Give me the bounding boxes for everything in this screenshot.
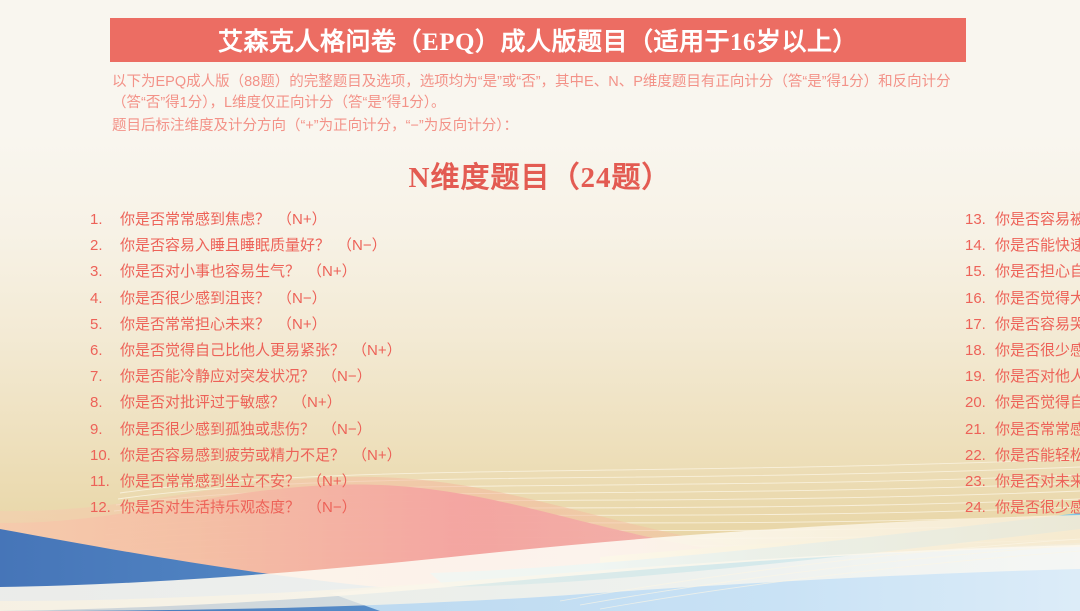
slide-root: 艾森克人格问卷（EPQ）成人版题目（适用于16岁以上） 以下为EPQ成人版（88… [0, 0, 1080, 611]
question-tag: （N−） [300, 496, 357, 517]
question-tag: （N−） [315, 418, 372, 439]
question-item: 19. 你是否对他人的议论感到不安？ （N+） [965, 365, 1080, 391]
question-text: 你是否容易被噩梦困扰？ [995, 208, 1080, 229]
question-text: 你是否容易入睡且睡眠质量好？ [120, 234, 330, 255]
question-item: 21. 你是否常常感到莫名的烦躁？ （N+） [965, 418, 1080, 444]
question-tag: （N+） [270, 313, 327, 334]
question-number: 12. [90, 499, 120, 516]
question-item: 20. 你是否觉得自己情绪稳定？ （N−） [965, 391, 1080, 417]
question-tag: （N−） [270, 287, 327, 308]
question-item: 22. 你是否能轻松应对工作/学习压力？ （N−） [965, 444, 1080, 470]
question-text: 你是否对他人的议论感到不安？ [995, 365, 1080, 386]
question-text: 你是否常常感到莫名的烦躁？ [995, 418, 1080, 439]
question-text: 你是否很少感到紧张或焦虑？ [995, 496, 1080, 517]
question-text: 你是否常常感到坐立不安？ [120, 470, 300, 491]
question-text: 你是否对生活持乐观态度？ [120, 496, 300, 517]
question-number: 23. [965, 473, 995, 490]
intro-line-1: 以下为EPQ成人版（88题）的完整题目及选项，选项均为“是”或“否”，其中E、N… [112, 72, 972, 114]
question-item: 18. 你是否很少感到恐惧？ （N−） [965, 339, 1080, 365]
question-item: 2. 你是否容易入睡且睡眠质量好？ （N−） [90, 234, 480, 260]
question-number: 21. [965, 421, 995, 438]
question-number: 3. [90, 263, 120, 280]
question-item: 16. 你是否觉得大多数事情都在自己的掌控中？ （N−） [965, 287, 1080, 313]
question-item: 13. 你是否容易被噩梦困扰？ （N+） [965, 208, 1080, 234]
question-text: 你是否很少感到沮丧？ [120, 287, 270, 308]
question-tag: （N+） [285, 391, 342, 412]
question-text: 你是否常常担心未来？ [120, 313, 270, 334]
question-text: 你是否容易哭泣？ [995, 313, 1080, 334]
question-item: 6. 你是否觉得自己比他人更易紧张？ （N+） [90, 339, 480, 365]
question-number: 10. [90, 447, 120, 464]
question-number: 18. [965, 342, 995, 359]
page-title: 艾森克人格问卷（EPQ）成人版题目（适用于16岁以上） [218, 22, 858, 58]
question-text: 你是否对未来感到悲观？ [995, 470, 1080, 491]
question-number: 9. [90, 421, 120, 438]
question-number: 2. [90, 237, 120, 254]
question-text: 你是否觉得自己比他人更易紧张？ [120, 339, 345, 360]
question-item: 3. 你是否对小事也容易生气？ （N+） [90, 260, 480, 286]
title-banner: 艾森克人格问卷（EPQ）成人版题目（适用于16岁以上） [110, 18, 966, 62]
question-number: 11. [90, 473, 120, 490]
question-item: 5. 你是否常常担心未来？ （N+） [90, 313, 480, 339]
question-item: 9. 你是否很少感到孤独或悲伤？ （N−） [90, 418, 480, 444]
intro-paragraph: 以下为EPQ成人版（88题）的完整题目及选项，选项均为“是”或“否”，其中E、N… [112, 72, 972, 137]
question-text: 你是否能快速从压力中恢复？ [995, 234, 1080, 255]
question-text: 你是否对批评过于敏感？ [120, 391, 285, 412]
question-tag: （N+） [300, 470, 357, 491]
question-item: 4. 你是否很少感到沮丧？ （N−） [90, 287, 480, 313]
question-number: 8. [90, 394, 120, 411]
question-tag: （N−） [315, 365, 372, 386]
question-text: 你是否常常感到焦虑？ [120, 208, 270, 229]
question-columns: 1. 你是否常常感到焦虑？ （N+） 2. 你是否容易入睡且睡眠质量好？ （N−… [0, 208, 1080, 522]
question-number: 5. [90, 316, 120, 333]
question-number: 19. [965, 368, 995, 385]
question-number: 15. [965, 263, 995, 280]
question-number: 20. [965, 394, 995, 411]
question-number: 14. [965, 237, 995, 254]
question-number: 24. [965, 499, 995, 516]
question-tag: （N+） [300, 260, 357, 281]
question-text: 你是否觉得自己情绪稳定？ [995, 391, 1080, 412]
question-number: 16. [965, 290, 995, 307]
question-text: 你是否容易感到疲劳或精力不足？ [120, 444, 345, 465]
question-number: 6. [90, 342, 120, 359]
question-item: 17. 你是否容易哭泣？ （N+） [965, 313, 1080, 339]
question-item: 11. 你是否常常感到坐立不安？ （N+） [90, 470, 480, 496]
question-number: 1. [90, 211, 120, 228]
question-item: 8. 你是否对批评过于敏感？ （N+） [90, 391, 480, 417]
question-item: 12. 你是否对生活持乐观态度？ （N−） [90, 496, 480, 522]
section-heading: N维度题目（24题） [0, 154, 1080, 196]
intro-line-2: 题目后标注维度及计分方向（“+”为正向计分，“−”为反向计分）： [112, 116, 972, 137]
question-number: 22. [965, 447, 995, 464]
question-item: 1. 你是否常常感到焦虑？ （N+） [90, 208, 480, 234]
question-tag: （N+） [270, 208, 327, 229]
question-item: 23. 你是否对未来感到悲观？ （N+） [965, 470, 1080, 496]
question-tag: （N+） [345, 444, 402, 465]
question-text: 你是否对小事也容易生气？ [120, 260, 300, 281]
question-text: 你是否很少感到恐惧？ [995, 339, 1080, 360]
question-tag: （N+） [345, 339, 402, 360]
question-item: 24. 你是否很少感到紧张或焦虑？ （N−） [965, 496, 1080, 522]
question-item: 14. 你是否能快速从压力中恢复？ （N−） [965, 234, 1080, 260]
question-item: 10. 你是否容易感到疲劳或精力不足？ （N+） [90, 444, 480, 470]
question-number: 4. [90, 290, 120, 307]
question-column-right: 13. 你是否容易被噩梦困扰？ （N+） 14. 你是否能快速从压力中恢复？ （… [480, 208, 1080, 522]
question-number: 17. [965, 316, 995, 333]
question-text: 你是否能轻松应对工作/学习压力？ [995, 444, 1080, 465]
question-item: 15. 你是否担心自己的健康？ （N+） [965, 260, 1080, 286]
question-number: 7. [90, 368, 120, 385]
question-text: 你是否觉得大多数事情都在自己的掌控中？ [995, 287, 1080, 308]
question-item: 7. 你是否能冷静应对突发状况？ （N−） [90, 365, 480, 391]
question-text: 你是否担心自己的健康？ [995, 260, 1080, 281]
question-column-left: 1. 你是否常常感到焦虑？ （N+） 2. 你是否容易入睡且睡眠质量好？ （N−… [0, 208, 480, 522]
question-text: 你是否能冷静应对突发状况？ [120, 365, 315, 386]
question-number: 13. [965, 211, 995, 228]
question-tag: （N−） [330, 234, 387, 255]
question-text: 你是否很少感到孤独或悲伤？ [120, 418, 315, 439]
